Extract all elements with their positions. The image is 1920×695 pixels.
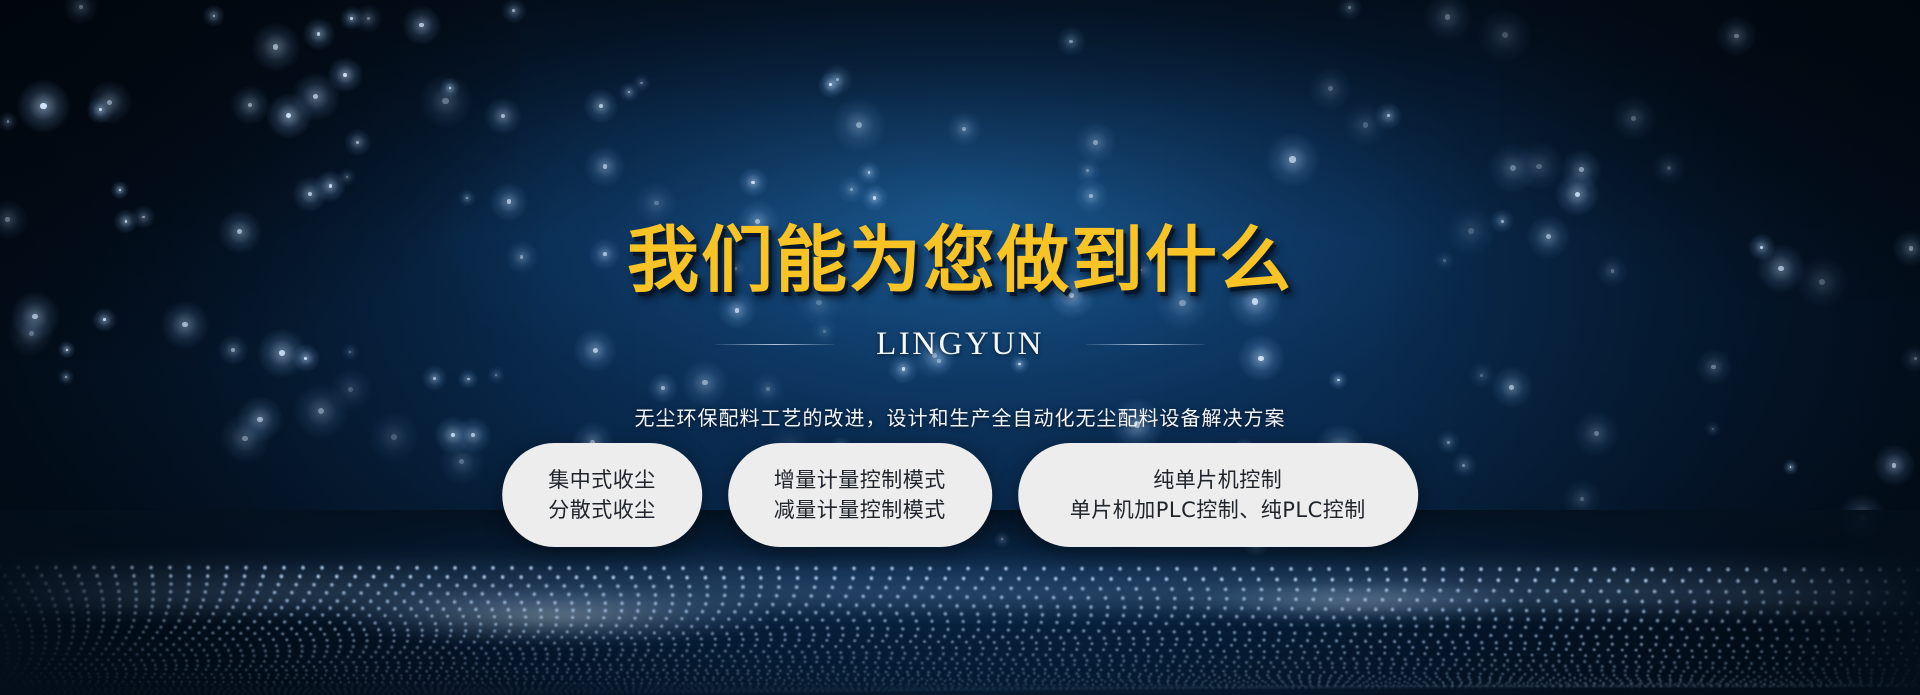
- divider-line-right: [1086, 344, 1204, 345]
- banner-headline: 我们能为您做到什么: [627, 224, 1293, 296]
- brand-name: LINGYUN: [876, 326, 1044, 363]
- pill-line-primary: 增量计量控制模式: [774, 470, 946, 491]
- brand-eyebrow-row: LINGYUN: [716, 326, 1204, 363]
- feature-pill-control-system[interactable]: 纯单片机控制 单片机加PLC控制、纯PLC控制: [1018, 443, 1418, 547]
- pill-line-primary: 集中式收尘: [548, 470, 656, 491]
- pill-line-secondary: 减量计量控制模式: [774, 500, 946, 521]
- divider-line-left: [716, 344, 834, 345]
- pill-line-secondary: 单片机加PLC控制、纯PLC控制: [1070, 500, 1366, 521]
- hero-banner: 我们能为您做到什么 LINGYUN 无尘环保配料工艺的改进，设计和生产全自动化无…: [0, 0, 1920, 695]
- feature-pill-dust-collection[interactable]: 集中式收尘 分散式收尘: [502, 443, 702, 547]
- banner-subtitle: 无尘环保配料工艺的改进，设计和生产全自动化无尘配料设备解决方案: [635, 402, 1286, 431]
- banner-content: 我们能为您做到什么 LINGYUN 无尘环保配料工艺的改进，设计和生产全自动化无…: [0, 0, 1920, 695]
- feature-pill-metering-mode[interactable]: 增量计量控制模式 减量计量控制模式: [728, 443, 992, 547]
- pill-line-secondary: 分散式收尘: [548, 500, 656, 521]
- feature-pill-row: 集中式收尘 分散式收尘 增量计量控制模式 减量计量控制模式 纯单片机控制 单片机…: [502, 443, 1418, 547]
- pill-line-primary: 纯单片机控制: [1153, 470, 1282, 491]
